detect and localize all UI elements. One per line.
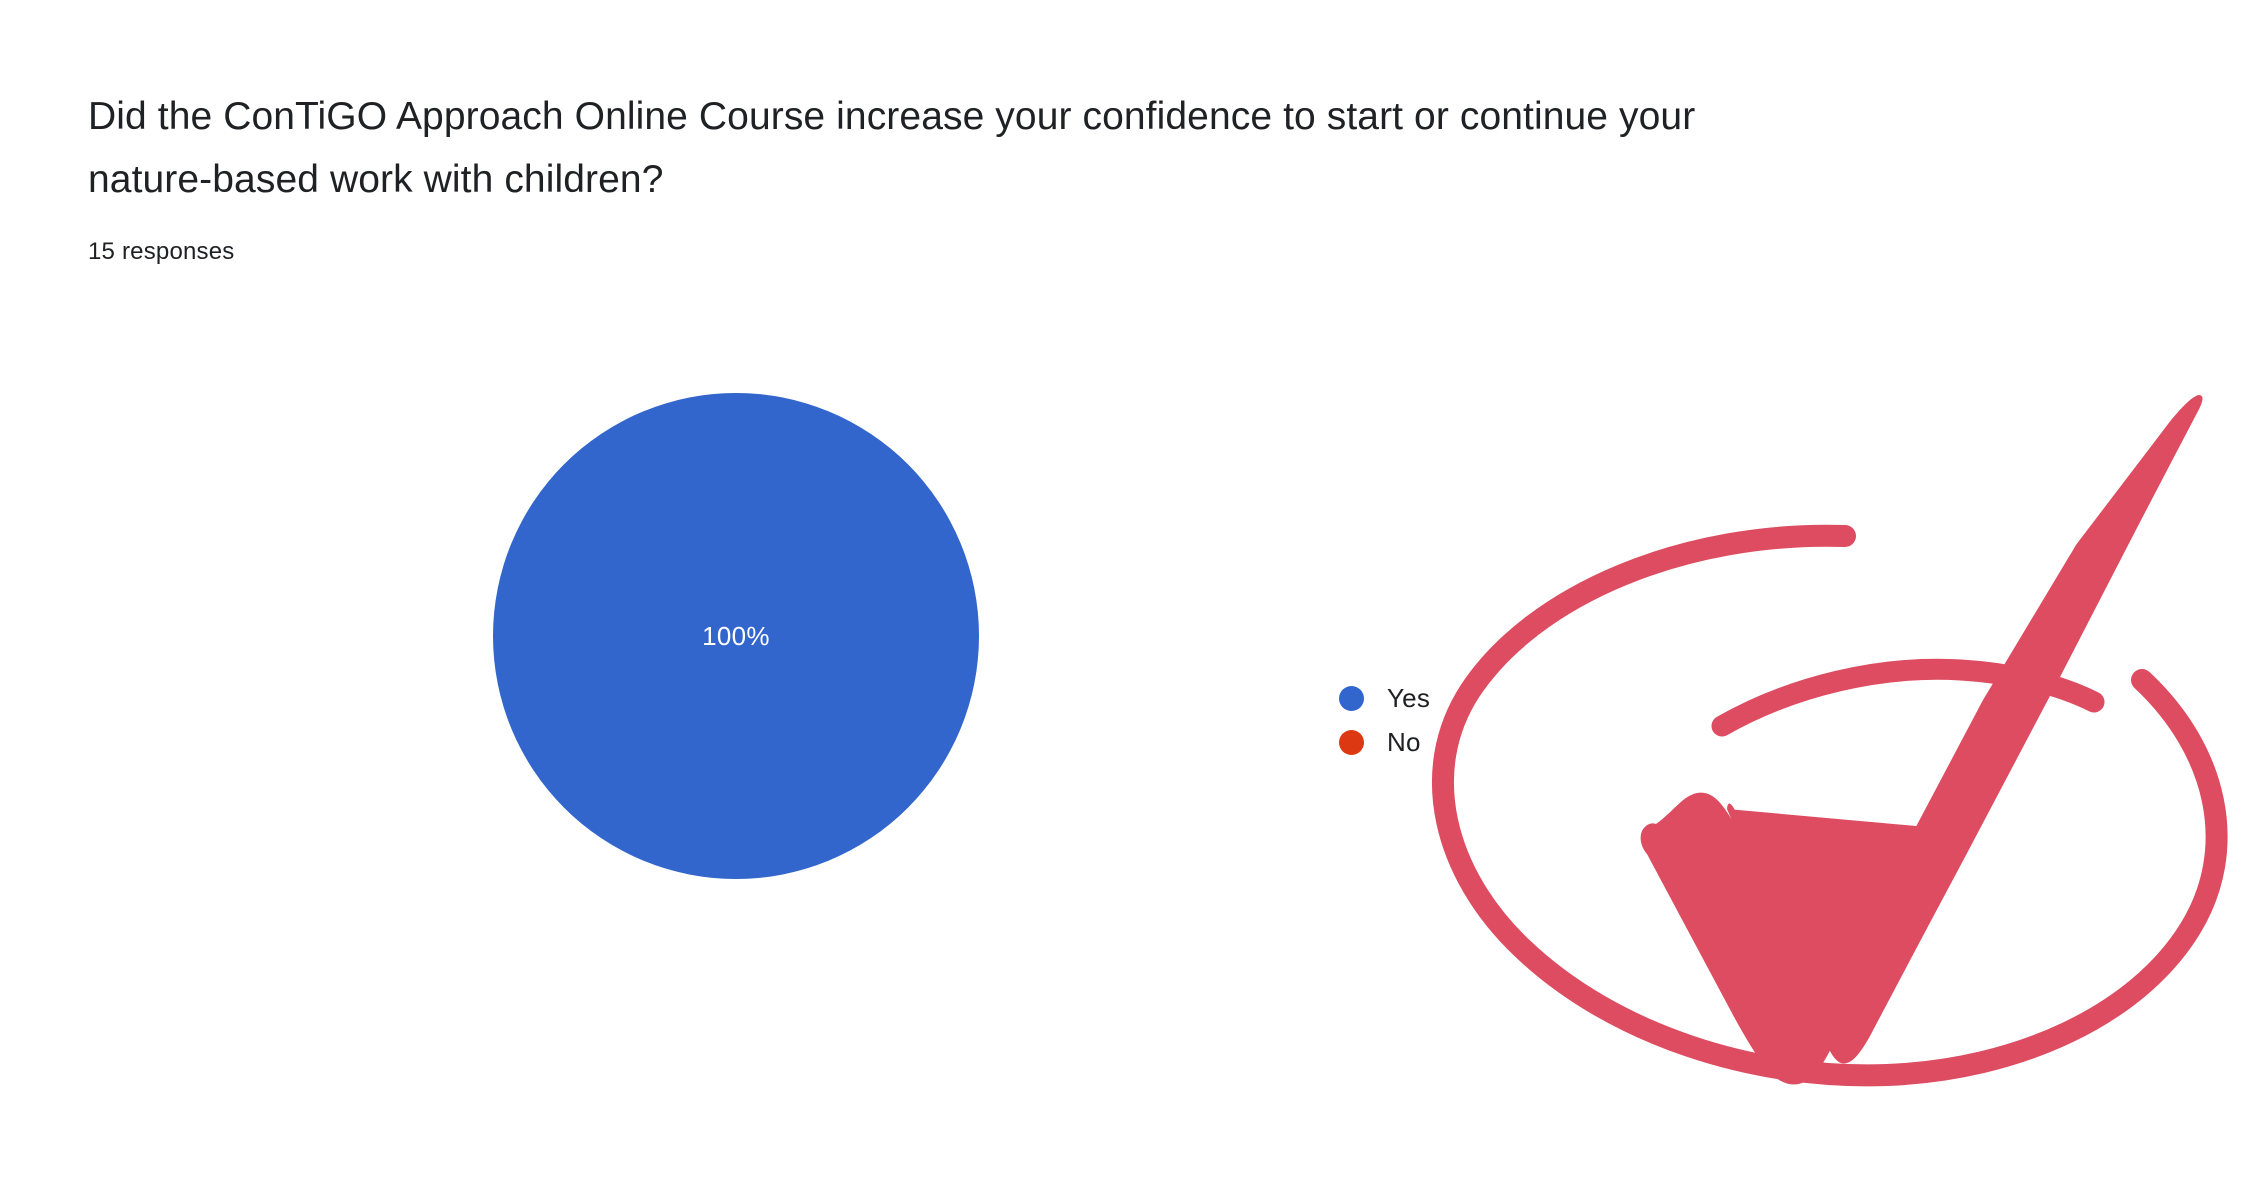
- pie-chart-canvas: 100%: [493, 393, 979, 879]
- legend-swatch-no-icon: [1339, 730, 1364, 755]
- legend-swatch-yes-icon: [1339, 686, 1364, 711]
- question-block: Did the ConTiGO Approach Online Course i…: [88, 85, 1888, 267]
- legend-item-yes[interactable]: Yes: [1339, 685, 1430, 711]
- response-count-label: 15 responses: [88, 237, 1888, 267]
- legend-label-no: No: [1387, 727, 1421, 758]
- page-title: Did the ConTiGO Approach Online Course i…: [88, 85, 1828, 211]
- legend-item-no[interactable]: No: [1339, 729, 1430, 755]
- pie-slice-yes[interactable]: [493, 393, 979, 879]
- survey-response-chart-panel: Did the ConTiGO Approach Online Course i…: [0, 0, 2253, 1186]
- chart-legend: Yes No: [1339, 685, 1430, 755]
- check-mark-circled-icon: [1430, 395, 2253, 1186]
- legend-label-yes: Yes: [1387, 683, 1430, 714]
